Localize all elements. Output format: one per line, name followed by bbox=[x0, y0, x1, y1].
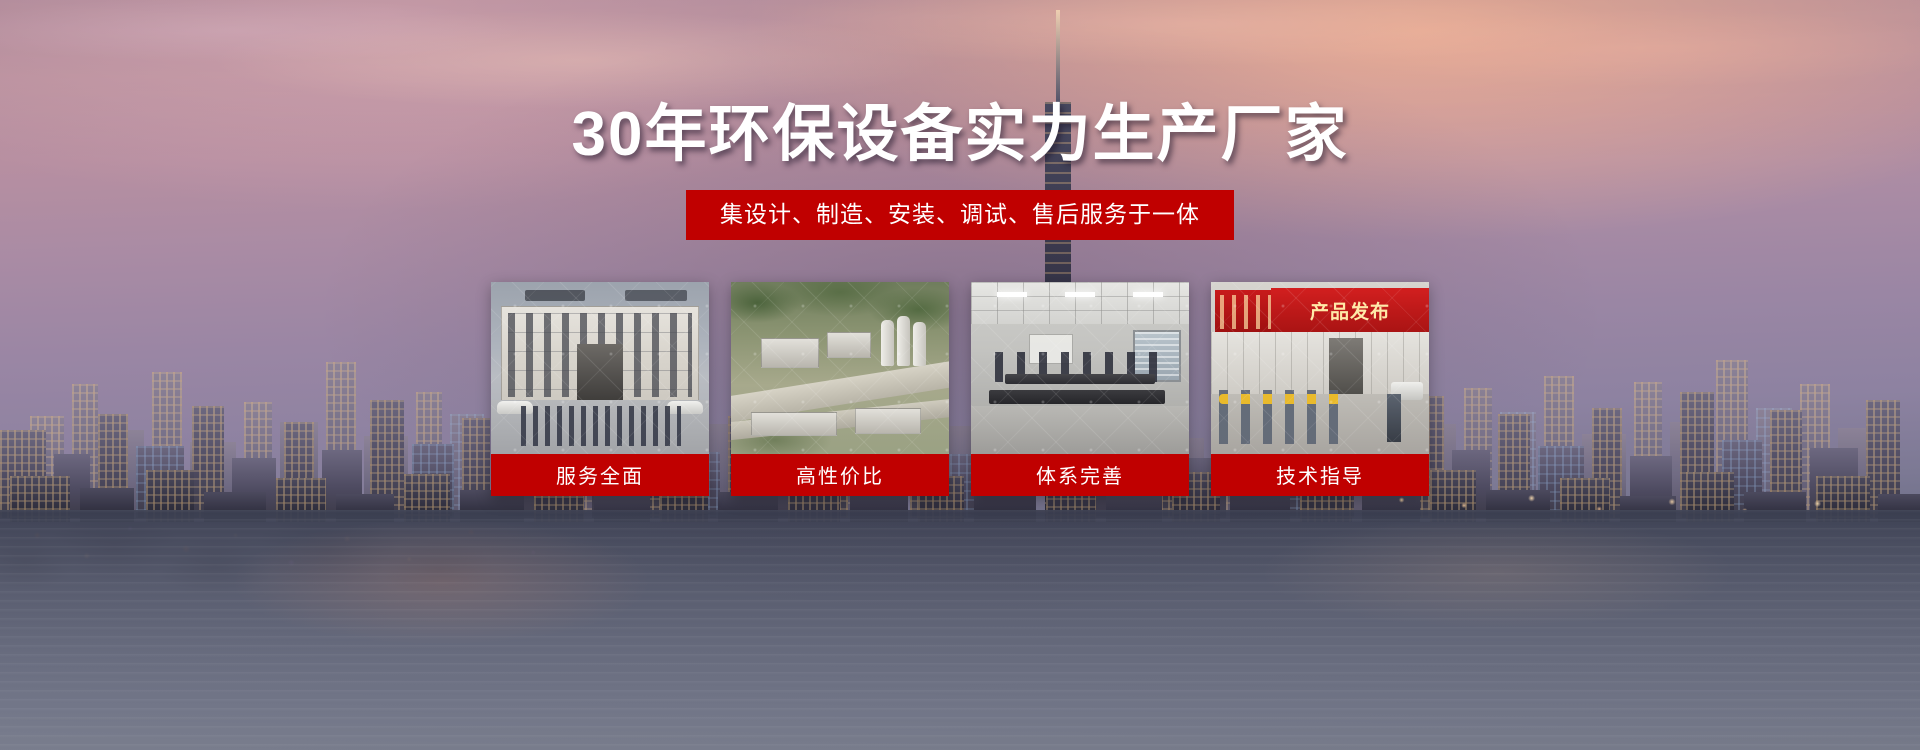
feature-card[interactable]: 高性价比 bbox=[731, 282, 949, 496]
feature-card[interactable]: 体系完善 bbox=[971, 282, 1189, 496]
plant-building-c bbox=[751, 412, 837, 436]
plant-building-b bbox=[827, 332, 871, 358]
desk-back bbox=[1005, 374, 1155, 384]
feature-card[interactable]: 技术指导 bbox=[1211, 282, 1429, 496]
card-caption: 高性价比 bbox=[731, 454, 949, 496]
silo-1 bbox=[881, 320, 894, 366]
ceiling-lamp-1 bbox=[997, 292, 1027, 297]
card-caption: 技术指导 bbox=[1211, 454, 1429, 496]
card-caption: 服务全面 bbox=[491, 454, 709, 496]
ceiling-lamp-2 bbox=[1065, 292, 1095, 297]
product-launch-banner bbox=[1271, 288, 1429, 334]
card-photo-workshop bbox=[1211, 282, 1429, 454]
office-floor bbox=[971, 406, 1189, 454]
workshop-door bbox=[1329, 338, 1363, 394]
card-photo-factory-aerial bbox=[731, 282, 949, 454]
feature-card-list: 服务全面 高性价比 bbox=[491, 282, 1429, 496]
desk-front bbox=[989, 390, 1165, 404]
presenter-person bbox=[1387, 394, 1401, 442]
building-sign-right bbox=[625, 290, 687, 301]
card-photo-office-building bbox=[491, 282, 709, 454]
ceiling-lamp-3 bbox=[1133, 292, 1163, 297]
office-ceiling bbox=[971, 282, 1189, 324]
staff-row bbox=[521, 406, 681, 446]
hero-content: 30年环保设备实力生产厂家 集设计、制造、安装、调试、售后服务于一体 服务全 bbox=[0, 0, 1920, 750]
hero-banner: 30年环保设备实力生产厂家 集设计、制造、安装、调试、售后服务于一体 服务全 bbox=[0, 0, 1920, 750]
plant-building-d bbox=[855, 408, 921, 434]
building-entrance bbox=[577, 344, 623, 402]
building-sign-left bbox=[525, 290, 585, 301]
feature-card[interactable]: 服务全面 bbox=[491, 282, 709, 496]
hero-headline: 30年环保设备实力生产厂家 bbox=[572, 104, 1349, 166]
card-photo-office-room bbox=[971, 282, 1189, 454]
worker-helmets bbox=[1219, 394, 1349, 404]
silo-2 bbox=[897, 316, 910, 366]
silo-3 bbox=[913, 322, 926, 366]
hero-subtitle-banner: 集设计、制造、安装、调试、售后服务于一体 bbox=[686, 190, 1234, 240]
card-caption: 体系完善 bbox=[971, 454, 1189, 496]
plant-building-a bbox=[761, 338, 819, 368]
